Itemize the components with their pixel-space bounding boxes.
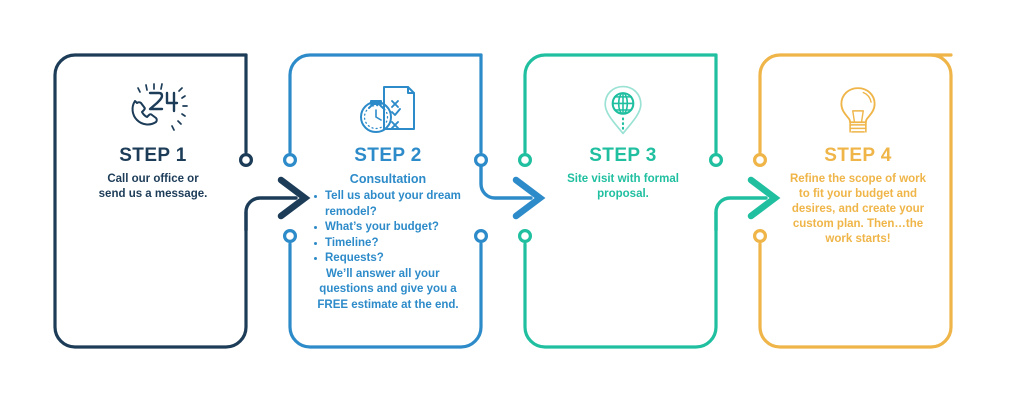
- step-2-bullet-list: Tell us about your dream remodel? What’s…: [302, 189, 474, 267]
- desc-line: Site visit with formal: [567, 173, 679, 185]
- map-pin-globe-icon: [593, 81, 653, 139]
- step-card-3[interactable]: STEP 3 Site visit with formal proposal.: [525, 55, 721, 347]
- desc-line: work starts!: [825, 233, 890, 245]
- step-2-subtitle: Consultation: [302, 172, 474, 187]
- step-card-4[interactable]: STEP 4 Refine the scope of work to fit y…: [760, 55, 956, 347]
- step-3-title: STEP 3: [537, 145, 709, 167]
- step-4-title: STEP 4: [772, 145, 944, 167]
- step-1-title: STEP 1: [67, 145, 239, 167]
- step-2-closing-text: We’ll answer all your questions and give…: [302, 267, 474, 314]
- desc-line: desires, and create your: [792, 203, 924, 215]
- desc-line: Refine the scope of work: [790, 173, 926, 185]
- step-card-1[interactable]: STEP 1 Call our office or send us a mess…: [55, 55, 251, 347]
- tail-line: FREE estimate at the end.: [317, 299, 458, 311]
- list-item: Requests?: [312, 251, 474, 267]
- step-3-description: Site visit with formal proposal.: [537, 172, 709, 202]
- list-item: What’s your budget?: [312, 220, 474, 236]
- step-1-description: Call our office or send us a message.: [67, 172, 239, 202]
- stopwatch-checklist-icon: [354, 81, 422, 139]
- tail-line: We’ll answer all your: [304, 267, 472, 283]
- step-2-content: STEP 2 Consultation Tell us about your d…: [290, 55, 486, 313]
- lightbulb-icon: [830, 81, 886, 139]
- desc-line: send us a message.: [99, 188, 208, 200]
- step-3-content: STEP 3 Site visit with formal proposal.: [525, 55, 721, 202]
- step-1-content: STEP 1 Call our office or send us a mess…: [55, 55, 251, 202]
- tail-line: questions and give you a: [319, 283, 456, 295]
- desc-line: custom plan. Then…the: [793, 218, 923, 230]
- desc-line: to fit your budget and: [799, 188, 917, 200]
- list-item: Timeline?: [312, 236, 474, 252]
- desc-line: Call our office or: [107, 173, 198, 185]
- step-4-description: Refine the scope of work to fit your bud…: [772, 172, 944, 247]
- phone-24-hours-icon: [117, 81, 189, 139]
- step-4-content: STEP 4 Refine the scope of work to fit y…: [760, 55, 956, 247]
- step-card-2[interactable]: STEP 2 Consultation Tell us about your d…: [290, 55, 486, 347]
- list-item: Tell us about your dream remodel?: [312, 189, 474, 220]
- step-2-title: STEP 2: [302, 145, 474, 167]
- desc-line: proposal.: [597, 188, 649, 200]
